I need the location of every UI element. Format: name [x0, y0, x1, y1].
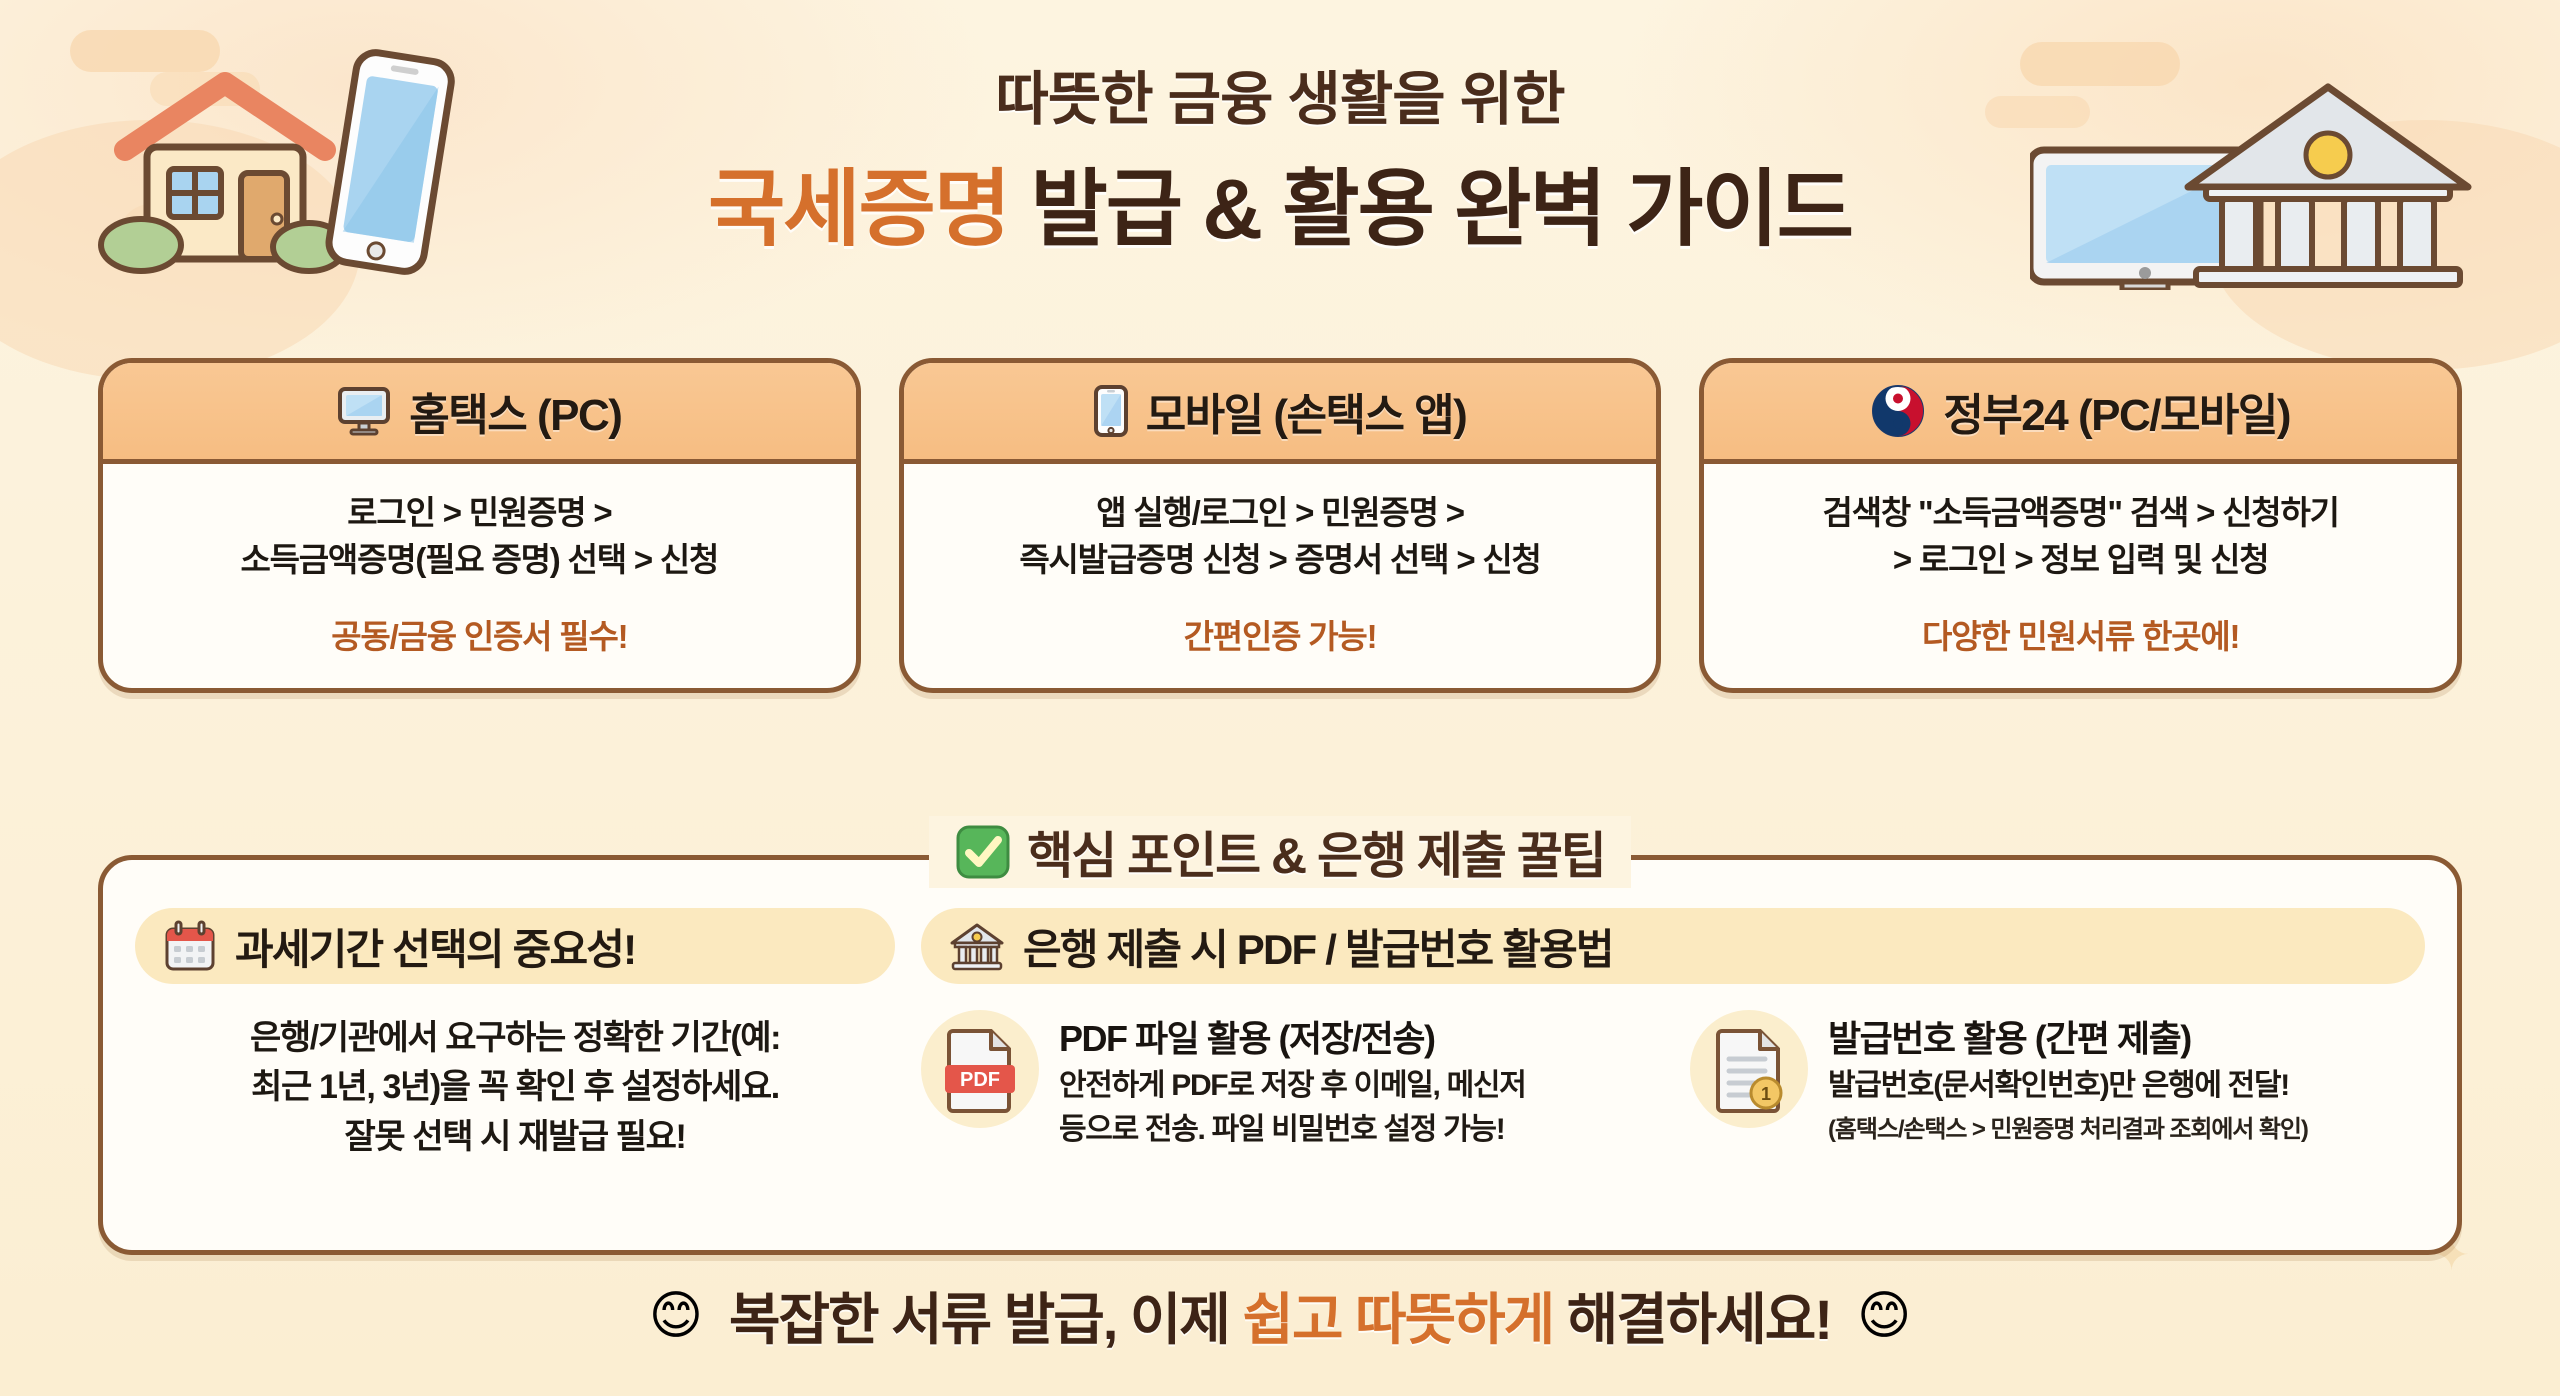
bank-tip-list: PDF PDF 파일 활용 (저장/전송) 안전하게 PDF로 저장 후 이메일…	[921, 1010, 2425, 1149]
bank-tip-pdf-body: PDF 파일 활용 (저장/전송) 안전하게 PDF로 저장 후 이메일, 메신…	[1059, 1010, 1656, 1149]
tax-period-body-line-1: 은행/기관에서 요구하는 정확한 기간(예:	[135, 1014, 895, 1063]
key-left-column: 과세기간 선택의 중요성! 은행/기관에서 요구하는 정확한 기간(예: 최근 …	[135, 908, 895, 1250]
key-points-heading-pill: 핵심 포인트 & 은행 제출 꿀팁	[929, 816, 1631, 888]
tax-period-body-line-2: 최근 1년, 3년)을 꼭 확인 후 설정하세요.	[135, 1063, 895, 1112]
key-points-panel: 핵심 포인트 & 은행 제출 꿀팁	[98, 855, 2462, 1255]
green-check-icon	[955, 824, 1011, 880]
footer-banner: 😊 복잡한 서류 발급, 이제 쉽고 따뜻하게 해결하세요! 😊	[0, 1275, 2560, 1356]
channel-step-line-2: 소득금액증명(필요 증명) 선택 > 신청	[123, 537, 836, 584]
channel-title: 모바일 (손택스 앱)	[1146, 379, 1467, 443]
footer-text: 복잡한 서류 발급, 이제 쉽고 따뜻하게 해결하세요!	[729, 1275, 1831, 1356]
document-number-icon: 1	[1710, 1025, 1788, 1113]
channel-card-mobile[interactable]: 모바일 (손택스 앱) 앱 실행/로그인 > 민원증명 > 즉시발급증명 신청 …	[899, 358, 1662, 693]
channel-note: 다양한 민원서류 한곳에!	[1724, 610, 2437, 658]
channel-card-header: 모바일 (손택스 앱)	[904, 363, 1657, 464]
channel-card-body: 검색창 "소득금액증명" 검색 > 신청하기 > 로그인 > 정보 입력 및 신…	[1704, 464, 2457, 688]
channel-card-hometax[interactable]: 홈택스 (PC) 로그인 > 민원증명 > 소득금액증명(필요 증명) 선택 >…	[98, 358, 861, 693]
footer-text-accent: 쉽고 따뜻하게	[1242, 1288, 1553, 1351]
channel-title: 정부24 (PC/모바일)	[1943, 379, 2290, 443]
page-title-block: 따뜻한 금융 생활을 위한 국세증명 발급 & 활용 완벽 가이드	[0, 52, 2560, 263]
desktop-monitor-icon	[337, 386, 391, 436]
pdf-file-icon: PDF	[941, 1025, 1019, 1113]
channel-card-body: 로그인 > 민원증명 > 소득금액증명(필요 증명) 선택 > 신청 공동/금융…	[103, 464, 856, 688]
bank-tip-issue-number-body: 발급번호 활용 (간편 제출) 발급번호(문서확인번호)만 은행에 전달! (홈…	[1828, 1010, 2425, 1149]
korea-government-taegeuk-icon	[1871, 384, 1925, 438]
bank-tip-desc-line-1: 발급번호(문서확인번호)만 은행에 전달!	[1828, 1066, 2425, 1106]
footer-text-after: 해결하세요!	[1553, 1288, 1831, 1351]
bank-building-icon	[949, 921, 1005, 971]
channel-step-line-1: 로그인 > 민원증명 >	[123, 490, 836, 537]
channel-card-gov24[interactable]: 정부24 (PC/모바일) 검색창 "소득금액증명" 검색 > 신청하기 > 로…	[1699, 358, 2462, 693]
footer-text-before: 복잡한 서류 발급, 이제	[729, 1288, 1242, 1351]
bank-tip-desc-line-2: 등으로 전송. 파일 비밀번호 설정 가능!	[1059, 1110, 1656, 1150]
channel-step-line-1: 검색창 "소득금액증명" 검색 > 신청하기	[1724, 490, 2437, 537]
tax-period-body: 은행/기관에서 요구하는 정확한 기간(예: 최근 1년, 3년)을 꼭 확인 …	[135, 1014, 895, 1162]
page-title: 국세증명 발급 & 활용 완벽 가이드	[0, 142, 2560, 263]
bank-tip-title: 발급번호 활용 (간편 제출)	[1828, 1010, 2425, 1062]
channel-step-line-2: > 로그인 > 정보 입력 및 신청	[1724, 537, 2437, 584]
pdf-icon-circle: PDF	[921, 1010, 1039, 1128]
document-icon-circle: 1	[1690, 1010, 1808, 1128]
tax-period-heading: 과세기간 선택의 중요성!	[235, 916, 635, 977]
bank-tip-desc-line-1: 안전하게 PDF로 저장 후 이메일, 메신저	[1059, 1066, 1656, 1106]
bank-tip-issue-number: 1 발급번호 활용 (간편 제출) 발급번호(문서확인번호)만 은행에 전달! …	[1690, 1010, 2425, 1149]
smiley-right-icon: 😊	[1857, 1290, 1911, 1342]
channel-card-header: 정부24 (PC/모바일)	[1704, 363, 2457, 464]
infographic-canvas: ✦	[0, 0, 2560, 1396]
page-subtitle: 따뜻한 금융 생활을 위한	[0, 52, 2560, 136]
bank-submit-subheader: 은행 제출 시 PDF / 발급번호 활용법	[921, 908, 2425, 984]
channel-step-line-1: 앱 실행/로그인 > 민원증명 >	[924, 490, 1637, 537]
bank-tip-title: PDF 파일 활용 (저장/전송)	[1059, 1010, 1656, 1062]
bank-submit-heading: 은행 제출 시 PDF / 발급번호 활용법	[1023, 916, 1613, 977]
key-points-content: 과세기간 선택의 중요성! 은행/기관에서 요구하는 정확한 기간(예: 최근 …	[103, 860, 2457, 1250]
key-points-heading: 핵심 포인트 & 은행 제출 꿀팁	[1027, 816, 1605, 888]
channel-card-header: 홈택스 (PC)	[103, 363, 856, 464]
page-title-rest: 발급 & 활용 완벽 가이드	[1009, 162, 1852, 256]
bank-tip-small-note: (홈택스/손택스 > 민원증명 처리결과 조회에서 확인)	[1828, 1109, 2425, 1144]
channel-step-line-2: 즉시발급증명 신청 > 증명서 선택 > 신청	[924, 537, 1637, 584]
page-title-accent: 국세증명	[708, 162, 1009, 256]
mobile-phone-icon	[1094, 385, 1128, 437]
key-right-column: 은행 제출 시 PDF / 발급번호 활용법 PDF	[921, 908, 2425, 1250]
tax-period-body-line-3: 잘못 선택 시 재발급 필요!	[135, 1113, 895, 1162]
channel-card-body: 앱 실행/로그인 > 민원증명 > 즉시발급증명 신청 > 증명서 선택 > 신…	[904, 464, 1657, 688]
smiley-left-icon: 😊	[649, 1290, 703, 1342]
svg-text:PDF: PDF	[960, 1069, 1000, 1091]
key-points-heading-row: 핵심 포인트 & 은행 제출 꿀팁	[103, 816, 2457, 888]
tax-period-subheader: 과세기간 선택의 중요성!	[135, 908, 895, 984]
svg-text:1: 1	[1761, 1084, 1771, 1104]
channel-note: 공동/금융 인증서 필수!	[123, 610, 836, 658]
calendar-icon	[163, 919, 217, 973]
channel-note: 간편인증 가능!	[924, 610, 1637, 658]
channel-title: 홈택스 (PC)	[409, 379, 621, 443]
bank-tip-pdf: PDF PDF 파일 활용 (저장/전송) 안전하게 PDF로 저장 후 이메일…	[921, 1010, 1656, 1149]
channel-card-list: 홈택스 (PC) 로그인 > 민원증명 > 소득금액증명(필요 증명) 선택 >…	[98, 358, 2462, 693]
